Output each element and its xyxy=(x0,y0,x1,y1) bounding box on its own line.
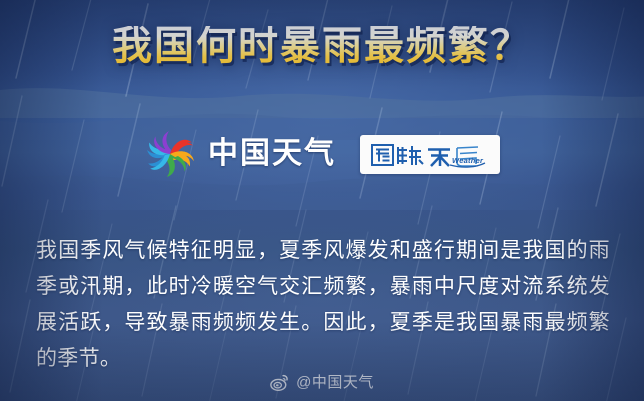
footer-handle: @中国天气 xyxy=(296,375,374,390)
brand-logo-row: 中国天气 xyxy=(0,128,644,180)
tujie-weather-badge[interactable]: Weather xyxy=(360,135,500,174)
svg-text:Weather: Weather xyxy=(452,156,484,165)
cma-swirl-icon xyxy=(144,128,196,180)
brand-name: 中国天气 xyxy=(208,139,336,169)
weibo-icon xyxy=(270,373,289,392)
weather-infographic-poster: 我国何时暴雨最频繁？ 中国天气 xyxy=(0,0,644,401)
footer-watermark: @中国天气 xyxy=(0,373,644,392)
tujie-weather-badge-art: Weather xyxy=(369,140,491,170)
page-title: 我国何时暴雨最频繁？ xyxy=(112,26,532,66)
wave-band-upper xyxy=(0,72,644,118)
body-paragraph: 我国季风气候特征明显，夏季风爆发和盛行期间是我国的雨季或汛期，此时冷暖空气交汇频… xyxy=(36,233,610,377)
title-container: 我国何时暴雨最频繁？ xyxy=(0,26,644,66)
